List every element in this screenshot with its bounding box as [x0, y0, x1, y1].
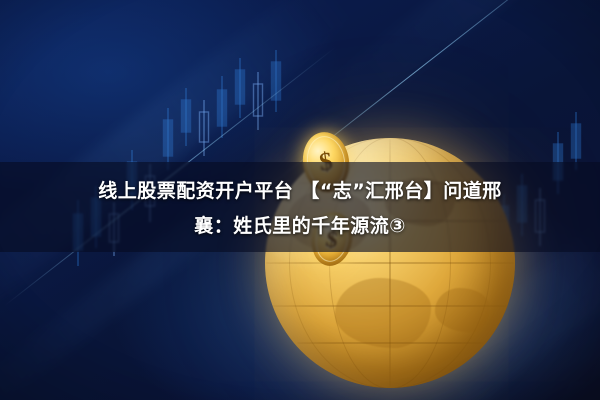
headline-line-1: 线上股票配资开户平台 【“志”汇邢台】问道邢	[98, 176, 502, 203]
headline: 线上股票配资开户平台 【“志”汇邢台】问道邢 襄：姓氏里的千年源流③	[0, 162, 600, 252]
headline-line-2: 襄：姓氏里的千年源流③	[194, 211, 406, 238]
promo-banner: $ $ 线上股票配资开户平台 【“志”汇邢台】问道邢 襄：姓氏里的千年源流③	[0, 0, 600, 400]
